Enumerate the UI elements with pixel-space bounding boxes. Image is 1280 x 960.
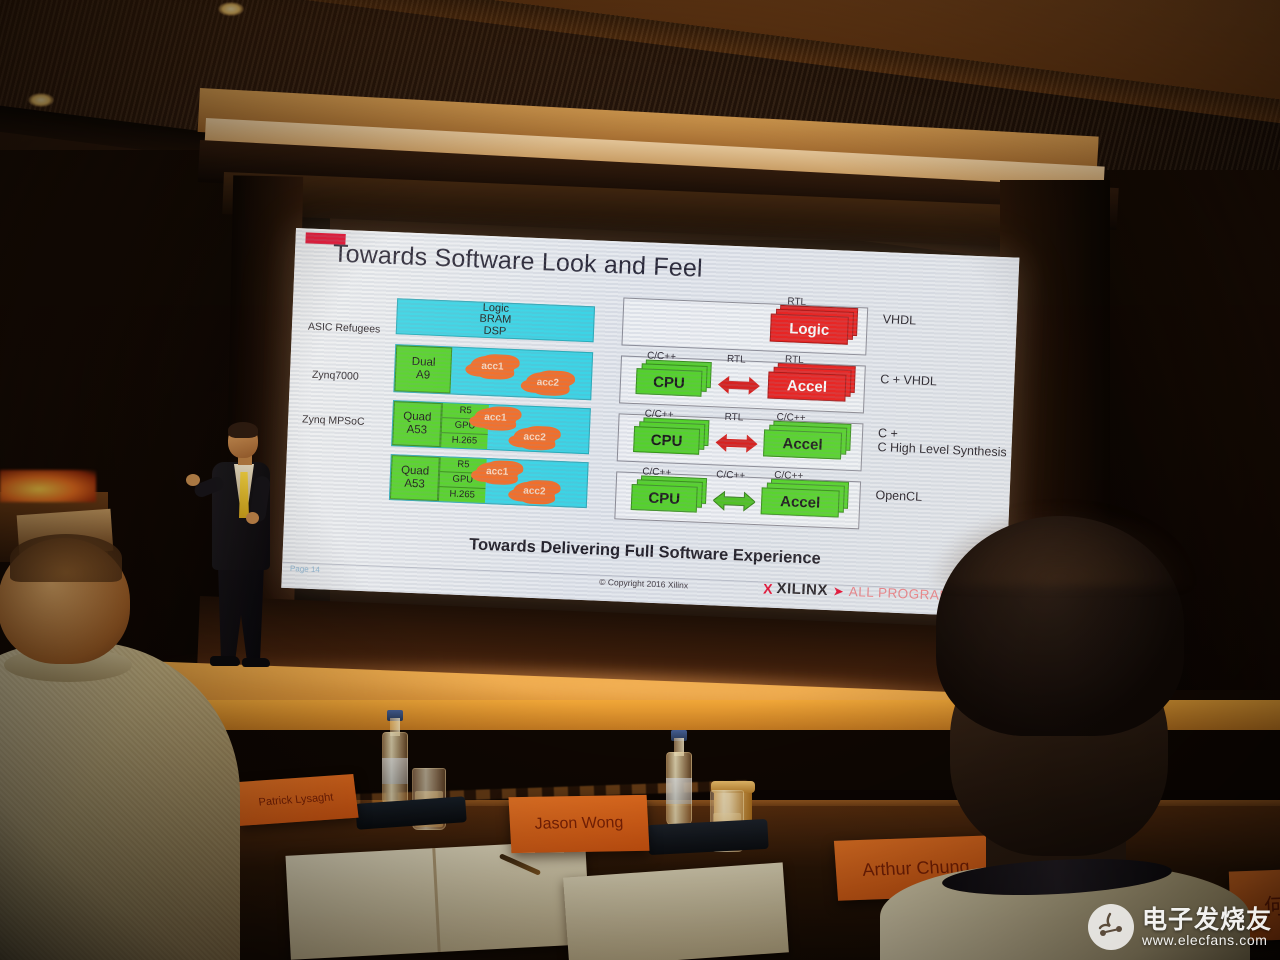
- accelerator-cloud-acc1: acc1: [470, 355, 515, 377]
- audience-member-left: [0, 538, 230, 960]
- row-label-zynq-mpsoc: Zynq MPSoC: [302, 413, 365, 428]
- chip-cpu: CPU: [631, 484, 698, 513]
- engine-h265: H.265: [441, 433, 488, 449]
- watermark: 电子发烧友 www.elecfans.com: [1088, 904, 1272, 950]
- cpu-line-1: Quad: [403, 411, 432, 425]
- engine-blocks: R5 GPU H.265: [438, 457, 487, 503]
- flow-label-vhdl: VHDL: [882, 312, 916, 327]
- cpu-block-quad-a53: Quad A53: [390, 455, 440, 501]
- chip-label-c-cpp: C/C++: [776, 412, 805, 424]
- double-arrow-red-icon: [715, 431, 758, 455]
- accelerator-cloud-acc1: acc1: [474, 407, 517, 428]
- accelerator-cloud-acc1: acc1: [476, 462, 519, 483]
- audience-right-hair: [936, 516, 1184, 736]
- chip-label-rtl: RTL: [785, 354, 804, 366]
- fabric-resources: Logic BRAM DSP: [397, 299, 594, 342]
- chip-cpu: CPU: [635, 368, 702, 397]
- elecfans-circuit-logo-icon: [1088, 904, 1134, 950]
- double-arrow-red-icon: [717, 373, 760, 397]
- notepad: [563, 862, 789, 960]
- bottle-label: [666, 778, 692, 804]
- water-bottle: [666, 730, 692, 826]
- audience-left-hair: [10, 534, 122, 582]
- row-label-zynq7000: Zynq7000: [312, 369, 359, 383]
- chip-accel: Accel: [767, 371, 846, 401]
- arrow-label-rtl: RTL: [727, 354, 746, 366]
- ceiling-downlight-icon: [28, 93, 54, 107]
- water-bottle: [382, 710, 408, 806]
- arrow-label-rtl: RTL: [724, 412, 743, 424]
- chip-label-rtl: RTL: [787, 296, 806, 308]
- xilinx-x-icon: X: [763, 580, 772, 596]
- chip-accel: Accel: [763, 429, 842, 459]
- accelerator-cloud-acc2: acc2: [513, 427, 556, 448]
- cpu-line-2: A9: [416, 369, 431, 383]
- ceiling-downlight-icon: [218, 2, 244, 16]
- watermark-url: www.elecfans.com: [1142, 933, 1272, 947]
- chip-logic: Logic: [770, 314, 849, 345]
- chip-cpu: CPU: [633, 426, 700, 455]
- audience-left-shirt: [0, 642, 240, 960]
- flow-label-opencl: OpenCL: [875, 488, 922, 504]
- brand-name: XILINX: [776, 580, 828, 599]
- presenter-right-hand: [246, 512, 259, 524]
- flow-label-hls: C + C High Level Synthesis: [877, 426, 1007, 459]
- chip-accel: Accel: [761, 487, 840, 517]
- presenter-shoe: [242, 658, 270, 667]
- watermark-text: 电子发烧友 www.elecfans.com: [1142, 908, 1272, 947]
- floral-arrangement: [0, 470, 96, 502]
- slide-title: Towards Software Look and Feel: [332, 240, 703, 284]
- cpu-line-1: Dual: [411, 356, 435, 370]
- cpu-line-2: A53: [406, 424, 427, 438]
- presenter-hair: [228, 422, 258, 438]
- chip-label-c-cpp: C/C++: [642, 466, 671, 478]
- chip-label-c-cpp: C/C++: [647, 351, 676, 363]
- cpu-block-dual-a9: Dual A9: [394, 345, 452, 393]
- arrow-label-c-cpp: C/C++: [716, 469, 745, 481]
- name-placard-patrick-lysaght: Patrick Lysaght: [233, 774, 358, 826]
- presenter-left-hand: [186, 474, 200, 486]
- device-diagram-row-1: Logic BRAM DSP: [396, 298, 595, 342]
- accelerator-cloud-acc2: acc2: [513, 481, 556, 502]
- cpu-line-2: A53: [404, 478, 425, 492]
- open-notebook: [285, 840, 590, 960]
- bottle-label: [382, 758, 408, 784]
- engine-h265: H.265: [439, 487, 486, 503]
- microphone-base: [647, 819, 768, 855]
- watermark-brand-cn: 电子发烧友: [1142, 908, 1272, 933]
- cpu-line-1: Quad: [401, 465, 430, 479]
- conference-photo-scene: Towards Software Look and Feel ASIC Refu…: [0, 0, 1280, 960]
- flow-label-c-vhdl: C + VHDL: [880, 372, 937, 388]
- audience-member-right: [846, 516, 1266, 960]
- cpu-block-quad-a53: Quad A53: [392, 401, 442, 447]
- double-arrow-green-icon: [713, 489, 756, 513]
- chip-label-c-cpp: C/C++: [774, 470, 803, 482]
- accelerator-cloud-acc2: acc2: [525, 372, 570, 394]
- row-label-asic-refugees: ASIC Refugees: [308, 321, 381, 336]
- name-placard-jason-wong: Jason Wong: [509, 795, 650, 853]
- presenter-tie: [239, 472, 249, 518]
- chip-label-c-cpp: C/C++: [644, 408, 673, 420]
- chevron-right-icon: ➤: [833, 583, 845, 599]
